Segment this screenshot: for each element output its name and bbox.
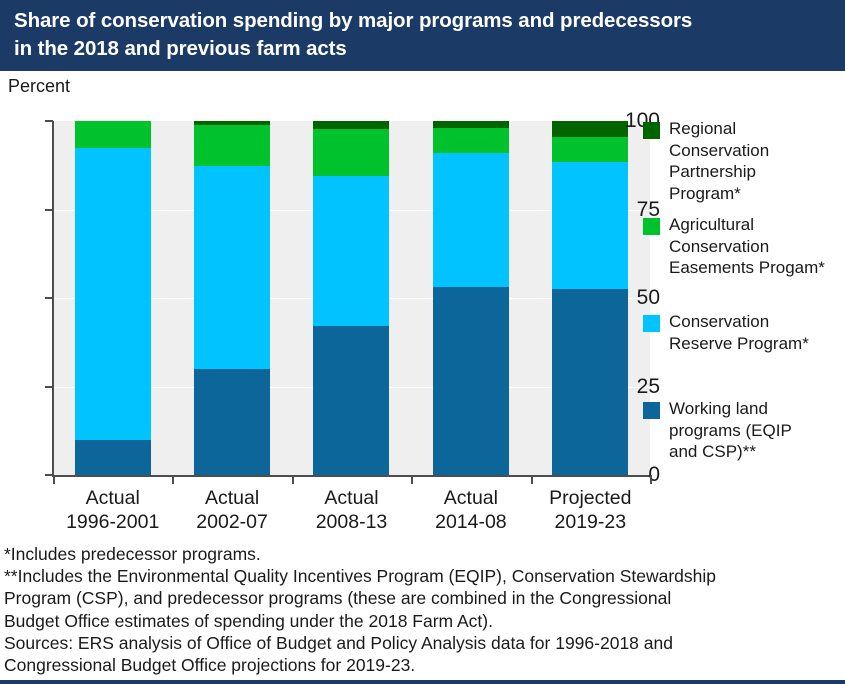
y-axis-tick <box>45 474 53 476</box>
page-title: Share of conservation spending by major … <box>14 7 831 63</box>
footnote-double-asterisk: **Includes the Environmental Quality Inc… <box>4 565 842 632</box>
legend-swatch-icon <box>643 402 660 419</box>
x-axis-tick <box>53 475 55 484</box>
bar-segment[interactable] <box>194 166 270 369</box>
x-axis-tick <box>292 475 294 484</box>
stacked-bar[interactable] <box>433 121 509 475</box>
legend-swatch-icon <box>643 315 660 332</box>
x-axis-tick <box>531 475 533 484</box>
bar-band <box>53 121 172 475</box>
footnote-asterisk: *Includes predecessor programs. <box>4 543 842 565</box>
x-axis-tick <box>411 475 413 484</box>
bar-segment[interactable] <box>75 121 151 148</box>
bottom-rule <box>0 680 845 684</box>
bar-segment[interactable] <box>552 137 628 162</box>
plot-area <box>53 121 650 475</box>
y-axis-tick <box>45 297 53 299</box>
bar-segment[interactable] <box>313 326 389 475</box>
x-axis-tick-label: Actual 2002-07 <box>172 486 291 534</box>
x-axis-tick-label: Actual 1996-2001 <box>53 486 172 534</box>
footnotes: *Includes predecessor programs. **Includ… <box>4 543 842 676</box>
bar-segment[interactable] <box>194 369 270 475</box>
legend-label: Agricultural Conservation Easements Prog… <box>669 214 845 279</box>
x-axis-tick-label: Actual 2008-13 <box>292 486 411 534</box>
stacked-bar[interactable] <box>75 121 151 475</box>
y-axis-tick-label: 25 <box>616 376 660 397</box>
y-axis-tick <box>45 209 53 211</box>
stacked-bar-chart: 0255075100Actual 1996-2001Actual 2002-07… <box>0 105 660 540</box>
bar-segment[interactable] <box>552 162 628 289</box>
y-axis-unit-label: Percent <box>8 76 70 97</box>
footnote-sources: Sources: ERS analysis of Office of Budge… <box>4 632 842 676</box>
legend-label: Conservation Reserve Program* <box>669 311 845 354</box>
x-axis-line <box>52 475 651 477</box>
bar-segment[interactable] <box>433 287 509 475</box>
bar-segment[interactable] <box>313 129 389 176</box>
bar-segment[interactable] <box>433 128 509 153</box>
bar-segment[interactable] <box>194 125 270 166</box>
y-axis-tick-label: 0 <box>616 464 660 485</box>
bar-segment[interactable] <box>75 440 151 475</box>
header-banner: Share of conservation spending by major … <box>0 0 845 71</box>
legend-swatch-icon <box>643 122 660 139</box>
y-axis-tick <box>45 120 53 122</box>
y-axis-tick-label: 50 <box>616 287 660 308</box>
legend-label: Regional Conservation Partnership Progra… <box>669 118 845 204</box>
bar-band <box>172 121 291 475</box>
legend-label: Working land programs (EQIP and CSP)** <box>669 398 845 463</box>
x-axis-tick-label: Projected 2019-23 <box>531 486 650 534</box>
x-axis-tick-label: Actual 2014-08 <box>411 486 530 534</box>
y-axis-tick-label: 75 <box>616 199 660 220</box>
bar-segment[interactable] <box>313 121 389 129</box>
bar-band <box>292 121 411 475</box>
bar-segment[interactable] <box>433 121 509 128</box>
bar-segment[interactable] <box>433 153 509 288</box>
x-axis-tick <box>650 475 652 484</box>
stacked-bar[interactable] <box>194 121 270 475</box>
bar-band <box>411 121 530 475</box>
y-axis-tick <box>45 386 53 388</box>
chart-page: Share of conservation spending by major … <box>0 0 845 684</box>
bar-segment[interactable] <box>313 176 389 326</box>
legend-swatch-icon <box>643 218 660 235</box>
x-axis-tick <box>172 475 174 484</box>
bar-segment[interactable] <box>75 148 151 440</box>
stacked-bar[interactable] <box>313 121 389 475</box>
